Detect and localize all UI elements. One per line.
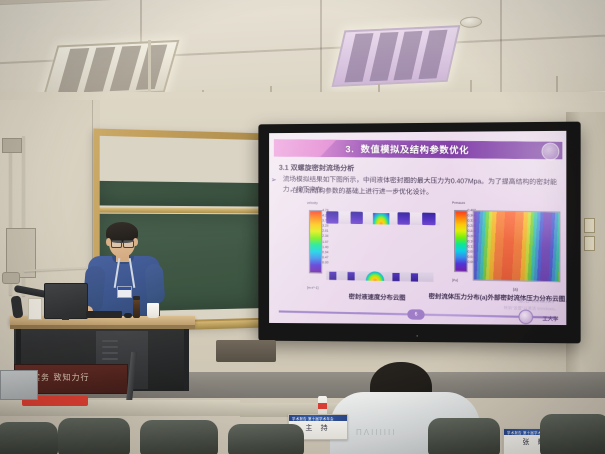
keyboard[interactable] [86,311,122,318]
monitor-stand [62,314,69,320]
chair-5[interactable] [428,418,500,454]
wall-speaker [216,340,276,362]
wall-speaker-bracket [2,272,20,284]
display-brand-logo: ● [416,333,419,338]
slide-page-number: 6 [407,309,424,320]
university-logo-icon [519,310,534,325]
wall-junction-box [2,138,22,153]
presentation-room-photo: 3. 数值模拟及结构参数优化 3.1 双螺旋密封流场分析 ➢ 流场模拟结果如下图… [0,0,605,454]
power-outlet-right[interactable] [584,218,595,233]
slide-title-text: 数值模拟及结构参数优化 [361,144,469,155]
mouse[interactable] [124,313,132,318]
namecard-header-bar: 学术报告 第十届学术年会 [289,415,347,421]
windows-activation-watermark: 激活 Windows [518,296,554,305]
paper-sheet [28,298,42,320]
chair-6[interactable] [540,414,605,454]
beverage-bottle [133,299,140,318]
slide-section-heading: 3.1 双螺旋密封流场分析 [279,163,355,174]
university-emblem-icon [542,143,560,161]
figure-pressure-contour: Pressure [Pa] 0.4070.3660.3260.2850.2440… [454,208,562,291]
chair-2[interactable] [58,418,130,454]
pressure-field-plot [473,210,561,282]
display-screen: 3. 数值模拟及结构参数优化 3.1 双螺旋密封流场分析 ➢ 流场模拟结果如下图… [269,131,566,325]
bullet-arrow-icon: ➢ [271,176,277,184]
velocity-colorbar-unit: [m s^-1] [307,286,318,290]
university-name: 工大学 [543,315,559,323]
blackboard-rail [100,207,260,213]
slide-title-number: 3. [346,144,355,154]
velocity-upper-land [326,211,439,225]
velocity-colorbar-title: velocity [307,201,318,205]
namecard-header-text: 学术报告 第十届学术年会 [292,416,334,421]
power-outlet-right-2[interactable] [584,236,595,251]
chair-3[interactable] [140,420,218,454]
ceiling-light-left [43,40,180,98]
presenter-glasses-right [123,240,134,248]
paper-cup [147,303,159,318]
shirt-print-text: ΠΛΙΙΙΙΙΙ [356,428,396,437]
ceiling-light-right [332,25,461,87]
presenter-badge [117,286,132,298]
presenter-right-arm [145,263,166,304]
slide-body-line-2: 在初始结构参数的基础上进行进一步优化设计。 [292,186,561,200]
blackboard-panel-upper [100,181,260,207]
wall-display[interactable]: 3. 数值模拟及结构参数优化 3.1 双螺旋密封流场分析 ➢ 流场模拟结果如下图… [258,122,580,344]
velocity-colorbar [309,210,322,274]
pressure-colorbar [454,210,467,272]
laptop[interactable] [0,370,38,400]
figure-velocity-contour: velocity [m s^-1] 4.734.223.753.282.812.… [309,208,440,284]
podium-leg-right [184,329,189,391]
figure-label-a: (a) [473,286,559,293]
pressure-colorbar-title: Pressure [452,201,465,205]
slide-title: 3. 数值模拟及结构参数优化 [346,141,470,159]
chair-4[interactable] [228,424,304,454]
pressure-colorbar-unit: [Pa] [452,278,458,282]
powerpoint-slide: 3. 数值模拟及结构参数优化 3.1 双螺旋密封流场分析 ➢ 流场模拟结果如下图… [269,131,566,325]
chair-1[interactable] [0,422,58,454]
